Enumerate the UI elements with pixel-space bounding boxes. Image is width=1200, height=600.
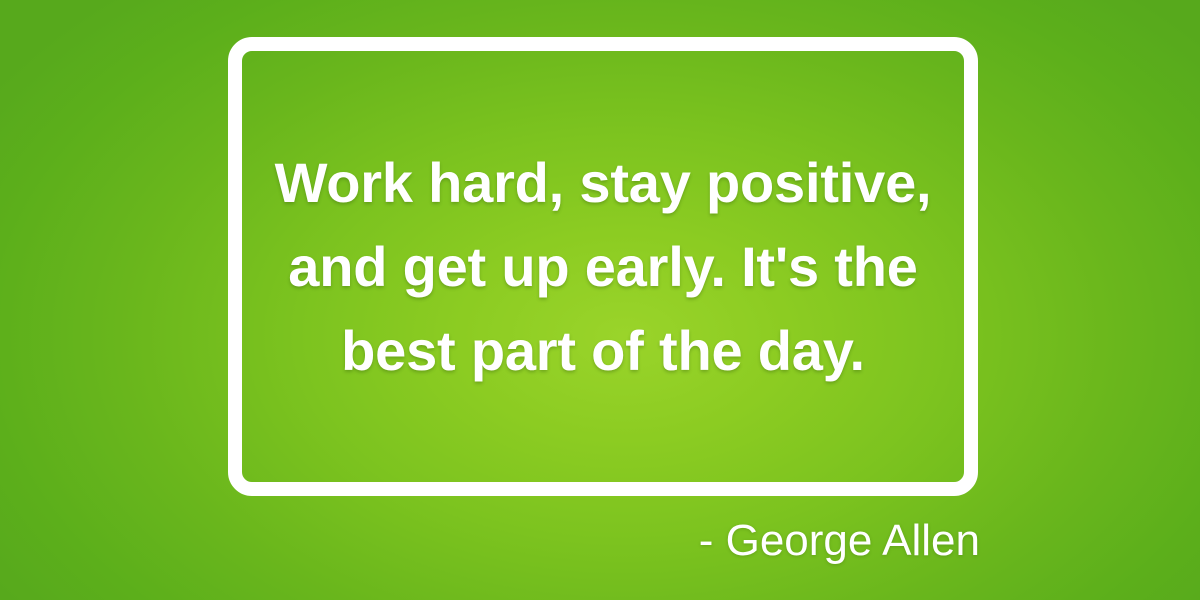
quote-card: Work hard, stay positive, and get up ear…: [0, 0, 1200, 600]
quote-line-1: Work hard, stay positive,: [275, 141, 932, 225]
quote-text-block: Work hard, stay positive, and get up ear…: [248, 57, 958, 476]
quote-attribution: - George Allen: [220, 512, 980, 570]
quote-line-2: and get up early. It's the: [288, 225, 917, 309]
quote-line-3: best part of the day.: [341, 309, 865, 393]
